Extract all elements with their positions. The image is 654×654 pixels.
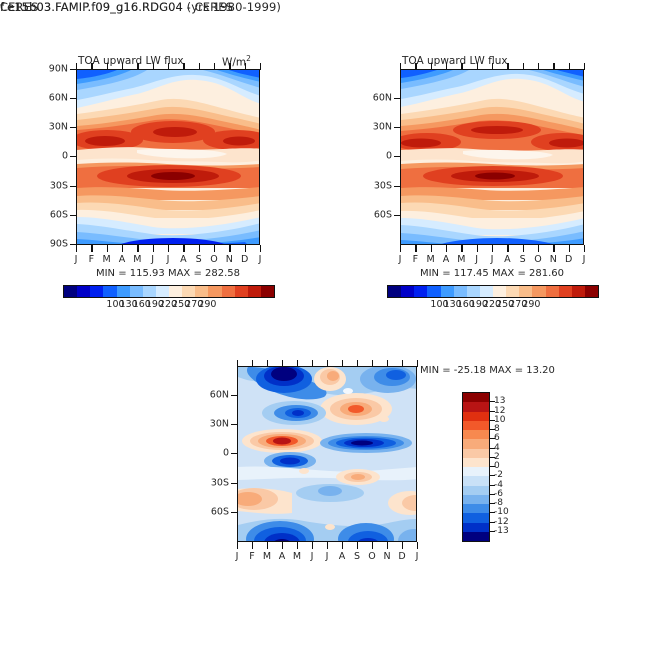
colorbar-cell — [463, 412, 489, 421]
xaxis-month-label: D — [398, 551, 405, 562]
obs-minmax-text: MIN = 117.45 MAX = 281.60 — [400, 268, 584, 279]
xaxis-month-label: J — [236, 551, 239, 562]
colorbar-cell — [463, 421, 489, 430]
colorbar-cell — [414, 286, 427, 297]
colorbar-cell — [463, 393, 489, 402]
xaxis-month-label: J — [259, 254, 262, 265]
xaxis-month-label: M — [133, 254, 141, 265]
xaxis-month-label: J — [151, 254, 154, 265]
colorbar-tick — [490, 531, 495, 532]
xtick-bottom — [553, 245, 554, 252]
colorbar-cell — [572, 286, 585, 297]
model-ytick-30N — [70, 127, 77, 128]
xaxis-month-label: F — [413, 254, 418, 265]
xtick-top — [400, 63, 401, 70]
xaxis-month-label: M — [293, 551, 301, 562]
colorbar-cell — [182, 286, 195, 297]
xtick-top — [446, 63, 447, 70]
xtick-bottom — [137, 245, 138, 252]
xtick-top — [137, 63, 138, 70]
model-colorbar-labels: 100130160190220250270290 — [63, 299, 273, 313]
xtick-top — [387, 360, 388, 367]
xtick-top — [297, 360, 298, 367]
xtick-top — [569, 63, 570, 70]
xtick-bottom — [107, 245, 108, 252]
colorbar-cell — [208, 286, 221, 297]
xtick-bottom — [400, 245, 401, 252]
colorbar-cell — [463, 486, 489, 495]
xaxis-month-label: J — [311, 551, 314, 562]
xaxis-month-label: J — [167, 254, 170, 265]
model-ytick-30S — [70, 186, 77, 187]
xtick-bottom — [584, 245, 585, 252]
obs-ytick-0 — [394, 156, 401, 157]
difference-colorbar[interactable] — [462, 392, 490, 542]
xaxis-month-label: A — [119, 254, 126, 265]
xtick-top — [402, 360, 403, 367]
xtick-top — [237, 360, 238, 367]
xaxis-month-label: M — [457, 254, 465, 265]
xtick-bottom — [507, 245, 508, 252]
xtick-bottom — [372, 542, 373, 549]
colorbar-tick — [490, 494, 495, 495]
xtick-bottom — [446, 245, 447, 252]
colorbar-cell — [261, 286, 274, 297]
colorbar-cell — [156, 286, 169, 297]
colorbar-tick — [490, 457, 495, 458]
xtick-top — [76, 63, 77, 70]
model-ylabel-90N: 90N — [36, 64, 68, 75]
xaxis-month-label: A — [504, 254, 511, 265]
diff-ytick-60N — [231, 395, 238, 396]
xaxis-month-label: D — [565, 254, 572, 265]
xtick-top — [267, 360, 268, 367]
colorbar-cell — [454, 286, 467, 297]
xtick-top — [417, 360, 418, 367]
obs-ytick-30S — [394, 186, 401, 187]
diff-contour-plot — [237, 366, 417, 542]
xtick-top — [183, 63, 184, 70]
xaxis-month-label: J — [416, 551, 419, 562]
xtick-top — [153, 63, 154, 70]
xtick-top — [327, 360, 328, 367]
xtick-bottom — [538, 245, 539, 252]
model-ylabel-90S: 90S — [36, 239, 68, 250]
xtick-top — [260, 63, 261, 70]
xtick-bottom — [461, 245, 462, 252]
xaxis-month-label: S — [354, 551, 360, 562]
xtick-bottom — [229, 245, 230, 252]
colorbar-tick — [490, 438, 495, 439]
xtick-bottom — [252, 542, 253, 549]
xtick-bottom — [402, 542, 403, 549]
obs-ylabel-30N: 30N — [360, 122, 392, 133]
colorbar-cell — [467, 286, 480, 297]
xtick-bottom — [415, 245, 416, 252]
xtick-bottom — [523, 245, 524, 252]
model-ytick-60N — [70, 98, 77, 99]
xaxis-month-label: O — [534, 254, 541, 265]
diff-minmax-text: MIN = -25.18 MAX = 13.20 — [420, 365, 600, 376]
xtick-top — [372, 360, 373, 367]
xaxis-month-label: F — [249, 551, 254, 562]
xtick-bottom — [431, 245, 432, 252]
colorbar-cell — [463, 513, 489, 522]
obs-ytick-30N — [394, 127, 401, 128]
colorbar-tick-label: -13 — [494, 526, 509, 536]
model-ytick-0 — [70, 156, 77, 157]
xtick-top — [584, 63, 585, 70]
xaxis-month-label: N — [226, 254, 233, 265]
xaxis-month-label: J — [491, 254, 494, 265]
xtick-bottom — [168, 245, 169, 252]
colorbar-cell — [463, 504, 489, 513]
colorbar-cell — [463, 495, 489, 504]
xtick-bottom — [199, 245, 200, 252]
colorbar-tick — [490, 401, 495, 402]
colorbar-cell — [77, 286, 90, 297]
colorbar-cell — [506, 286, 519, 297]
colorbar-tick — [490, 420, 495, 421]
model-colorbar[interactable] — [63, 285, 275, 298]
xtick-top — [107, 63, 108, 70]
colorbar-tick — [490, 448, 495, 449]
obs-contour-plot — [400, 69, 584, 245]
xaxis-month-label: M — [263, 551, 271, 562]
panel-difference: f.e15b03.FAMIP.f09_g16.RDG04 - CERES — [0, 0, 233, 14]
obs-ylabel-60N: 60N — [360, 93, 392, 104]
model-contour-plot — [76, 69, 260, 245]
obs-colorbar[interactable] — [387, 285, 599, 298]
xtick-top — [461, 63, 462, 70]
obs-ytick-60S — [394, 215, 401, 216]
xaxis-month-label: A — [279, 551, 286, 562]
xtick-top — [91, 63, 92, 70]
diff-panel-title: f.e15b03.FAMIP.f09_g16.RDG04 - CERES — [0, 0, 233, 14]
difference-colorbar-labels: 13121086420-2-4-6-8-10-12-13 — [490, 392, 520, 540]
xtick-bottom — [387, 542, 388, 549]
diff-ytick-0 — [231, 453, 238, 454]
xtick-top — [312, 360, 313, 367]
xtick-top — [477, 63, 478, 70]
obs-colorbar-labels: 100130160190220250270290 — [387, 299, 597, 313]
model-ylabel-60N: 60N — [36, 93, 68, 104]
colorbar-tick — [490, 429, 495, 430]
xtick-bottom — [214, 245, 215, 252]
xtick-bottom — [183, 245, 184, 252]
colorbar-cell — [169, 286, 182, 297]
xtick-bottom — [91, 245, 92, 252]
diff-ytick-30N — [231, 424, 238, 425]
colorbar-cell — [143, 286, 156, 297]
colorbar-cell — [493, 286, 506, 297]
xaxis-month-label: A — [180, 254, 187, 265]
obs-ylabel-30S: 30S — [360, 181, 392, 192]
xaxis-month-label: M — [427, 254, 435, 265]
xtick-bottom — [492, 245, 493, 252]
xtick-top — [199, 63, 200, 70]
xaxis-month-label: A — [443, 254, 450, 265]
xtick-top — [245, 63, 246, 70]
colorbar-cell — [441, 286, 454, 297]
colorbar-cell — [585, 286, 598, 297]
colorbar-cell — [463, 476, 489, 485]
xaxis-month-label: J — [75, 254, 78, 265]
colorbar-cell — [463, 439, 489, 448]
xtick-top — [538, 63, 539, 70]
xtick-top — [252, 360, 253, 367]
xaxis-month-label: J — [399, 254, 402, 265]
xtick-top — [229, 63, 230, 70]
xtick-top — [214, 63, 215, 70]
colorbar-tick — [490, 522, 495, 523]
colorbar-cell — [463, 467, 489, 476]
colorbar-cell — [388, 286, 401, 297]
xtick-top — [122, 63, 123, 70]
colorbar-cell — [195, 286, 208, 297]
xtick-top — [553, 63, 554, 70]
colorbar-tick — [490, 475, 495, 476]
xaxis-month-label: M — [103, 254, 111, 265]
model-ylabel-30N: 30N — [36, 122, 68, 133]
colorbar-cell — [222, 286, 235, 297]
colorbar-cell — [235, 286, 248, 297]
diff-ylabel-0: 0 — [197, 448, 229, 459]
xaxis-month-label: J — [583, 254, 586, 265]
xaxis-month-label: S — [520, 254, 526, 265]
xtick-bottom — [260, 245, 261, 252]
colorbar-cell — [427, 286, 440, 297]
xtick-bottom — [342, 542, 343, 549]
model-ytick-60S — [70, 215, 77, 216]
colorbar-cell — [463, 430, 489, 439]
xtick-bottom — [245, 245, 246, 252]
xaxis-month-label: N — [383, 551, 390, 562]
colorbar-cell — [519, 286, 532, 297]
colorbar-cell — [546, 286, 559, 297]
xtick-bottom — [76, 245, 77, 252]
colorbar-tick — [490, 411, 495, 412]
xaxis-month-label: D — [241, 254, 248, 265]
colorbar-tick — [490, 503, 495, 504]
colorbar-cell — [532, 286, 545, 297]
xtick-bottom — [417, 542, 418, 549]
xtick-bottom — [122, 245, 123, 252]
colorbar-cell — [463, 402, 489, 411]
xaxis-month-label: O — [210, 254, 217, 265]
colorbar-cell — [248, 286, 261, 297]
colorbar-tick — [490, 485, 495, 486]
xtick-top — [168, 63, 169, 70]
xtick-bottom — [297, 542, 298, 549]
colorbar-cell — [64, 286, 77, 297]
diff-ylabel-30S: 30S — [197, 478, 229, 489]
colorbar-cell — [463, 532, 489, 541]
xtick-bottom — [267, 542, 268, 549]
obs-ylabel-60S: 60S — [360, 210, 392, 221]
xtick-top — [357, 360, 358, 367]
colorbar-cell — [463, 523, 489, 532]
xtick-top — [523, 63, 524, 70]
colorbar-cell — [559, 286, 572, 297]
xtick-top — [282, 360, 283, 367]
xtick-top — [507, 63, 508, 70]
model-units-label: W/m2 — [222, 54, 251, 69]
xtick-top — [431, 63, 432, 70]
diff-ytick-30S — [231, 483, 238, 484]
xtick-bottom — [312, 542, 313, 549]
colorbar-cell — [103, 286, 116, 297]
diff-ylabel-30N: 30N — [197, 419, 229, 430]
model-ylabel-60S: 60S — [36, 210, 68, 221]
colorbar-cell — [480, 286, 493, 297]
xaxis-month-label: S — [196, 254, 202, 265]
colorbar-tick — [490, 466, 495, 467]
xaxis-month-label: O — [368, 551, 375, 562]
xtick-bottom — [237, 542, 238, 549]
xaxis-month-label: J — [475, 254, 478, 265]
colorbar-tick-label: 290 — [198, 299, 216, 310]
colorbar-cell — [401, 286, 414, 297]
colorbar-cell — [130, 286, 143, 297]
xtick-top — [342, 360, 343, 367]
diff-ylabel-60S: 60S — [197, 507, 229, 518]
model-ylabel-0: 0 — [36, 151, 68, 162]
obs-ylabel-0: 0 — [360, 151, 392, 162]
xtick-bottom — [477, 245, 478, 252]
xtick-bottom — [327, 542, 328, 549]
diff-ylabel-60N: 60N — [197, 390, 229, 401]
xtick-bottom — [569, 245, 570, 252]
xtick-bottom — [357, 542, 358, 549]
colorbar-cell — [463, 449, 489, 458]
diff-ytick-60S — [231, 512, 238, 513]
colorbar-tick — [490, 512, 495, 513]
model-minmax-text: MIN = 115.93 MAX = 282.58 — [76, 268, 260, 279]
colorbar-cell — [90, 286, 103, 297]
xaxis-month-label: F — [89, 254, 94, 265]
xaxis-month-label: A — [339, 551, 346, 562]
colorbar-cell — [117, 286, 130, 297]
xtick-top — [492, 63, 493, 70]
model-ylabel-30S: 30S — [36, 181, 68, 192]
xaxis-month-label: N — [550, 254, 557, 265]
colorbar-tick-label: 290 — [522, 299, 540, 310]
obs-ytick-60N — [394, 98, 401, 99]
xtick-bottom — [282, 542, 283, 549]
xaxis-month-label: J — [326, 551, 329, 562]
colorbar-cell — [463, 458, 489, 467]
xtick-top — [415, 63, 416, 70]
xtick-bottom — [153, 245, 154, 252]
